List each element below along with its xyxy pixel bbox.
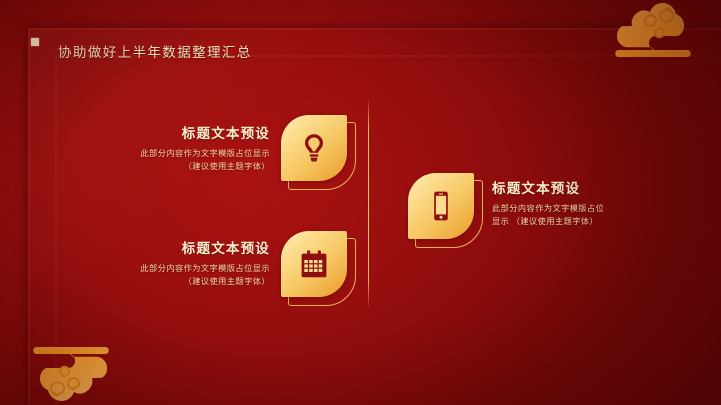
text-block-item-2: 标题文本预设 此部分内容作为文字模版占位显示 （建议使用主题字体） [95,240,270,289]
lightbulb-icon [297,131,331,165]
text-block-item-3: 标题文本预设 此部分内容作为文字模版占位 显示 （建议使用主题字体） [492,180,672,229]
text-block-item-1: 标题文本预设 此部分内容作为文字模版占位显示 （建议使用主题字体） [95,125,270,174]
calendar-icon [297,247,331,281]
badge-face [408,173,474,239]
item-body-line-2: （建议使用主题字体） [95,276,270,289]
item-body-line-2: （建议使用主题字体） [95,161,270,174]
item-body: 此部分内容作为文字模版占位 显示 （建议使用主题字体） [492,203,672,228]
inner-panel-border-2 [55,55,721,405]
slide-canvas: 协助做好上半年数据整理汇总 标题文本预设 此部分内容作为文字模版占位显示 （建议… [0,0,721,405]
icon-badge-item-1[interactable] [281,115,357,191]
item-title: 标题文本预设 [492,180,672,198]
item-body: 此部分内容作为文字模版占位显示 （建议使用主题字体） [95,148,270,173]
icon-badge-item-3[interactable] [408,173,484,249]
column-divider [368,100,369,307]
item-body-line-2: 显示 （建议使用主题字体） [492,216,672,229]
icon-badge-item-2[interactable] [281,231,357,307]
item-body-line-1: 此部分内容作为文字模版占位显示 [95,263,270,276]
badge-face [281,115,347,181]
slide-header: 协助做好上半年数据整理汇总 [0,0,721,80]
item-body: 此部分内容作为文字模版占位显示 （建议使用主题字体） [95,263,270,288]
item-title: 标题文本预设 [95,125,270,143]
badge-face [281,231,347,297]
item-title: 标题文本预设 [95,240,270,258]
smartphone-icon [424,189,458,223]
item-body-line-1: 此部分内容作为文字模版占位显示 [95,148,270,161]
auspicious-cloud-icon-bottom-left [0,336,120,405]
square-bullet-icon [31,38,39,46]
page-title: 协助做好上半年数据整理汇总 [58,41,252,61]
item-body-line-1: 此部分内容作为文字模版占位 [492,203,672,216]
